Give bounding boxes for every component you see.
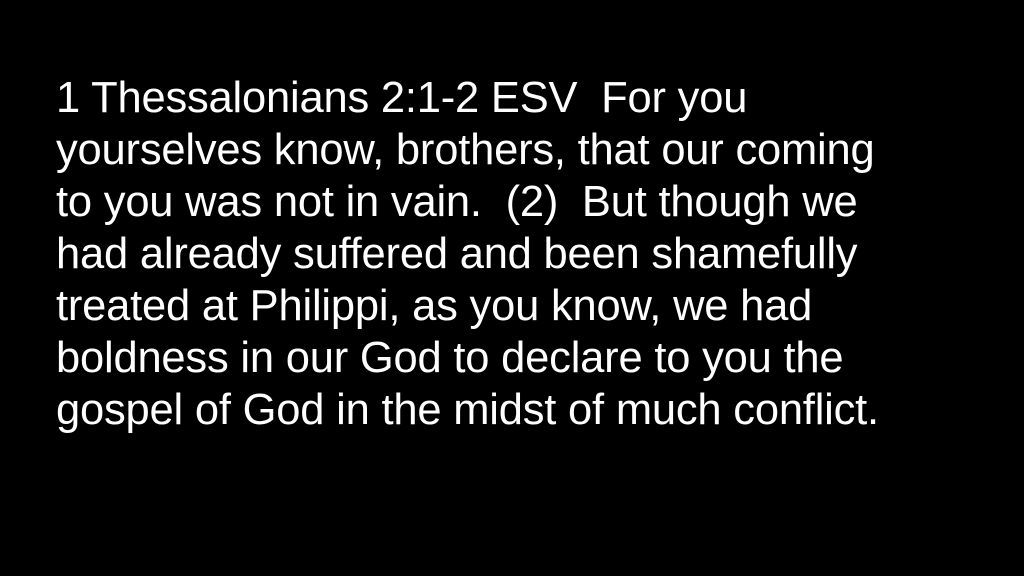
verse-line-4: had already suffered and been shamefully	[56, 228, 968, 280]
verse-line-6: boldness in our God to declare to you th…	[56, 332, 968, 384]
verse-line-2: yourselves know, brothers, that our comi…	[56, 124, 968, 176]
verse-line-5: treated at Philippi, as you know, we had	[56, 280, 968, 332]
scripture-slide: 1 Thessalonians 2:1-2 ESV For you yourse…	[0, 0, 1024, 576]
verse-line-1: 1 Thessalonians 2:1-2 ESV For you	[56, 72, 968, 124]
verse-line-3: to you was not in vain. (2) But though w…	[56, 176, 968, 228]
verse-text-block: 1 Thessalonians 2:1-2 ESV For you yourse…	[56, 72, 968, 436]
verse-line-7: gospel of God in the midst of much confl…	[56, 384, 968, 436]
